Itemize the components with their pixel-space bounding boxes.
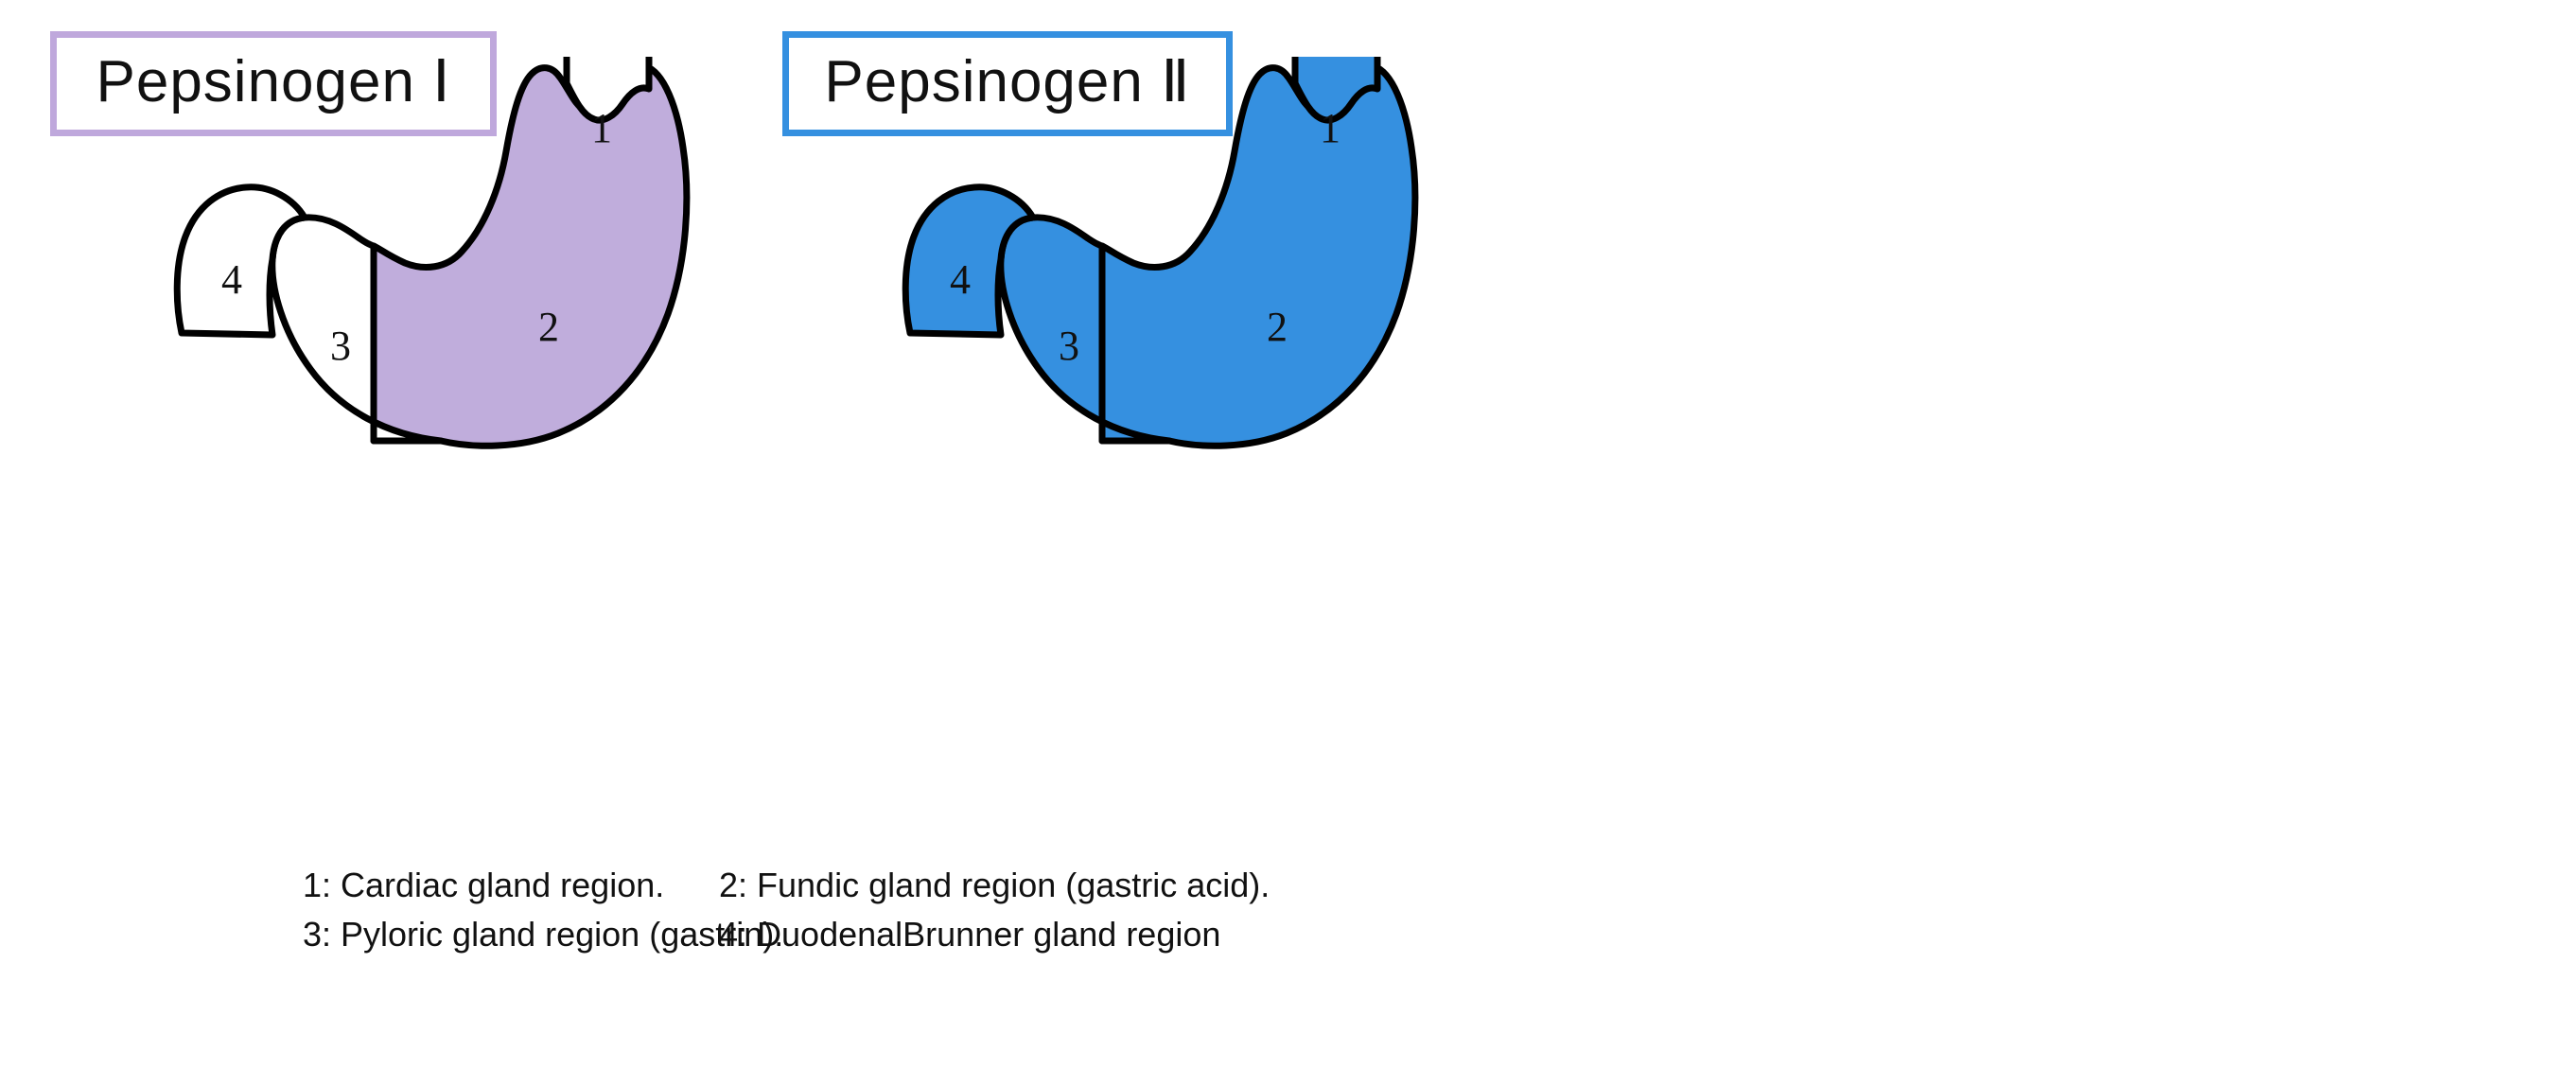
stomach-region-3-label: 3 [330, 323, 351, 369]
legend-item-3: 3: Pyloric gland region (gastrin). [303, 915, 719, 954]
stomach-region-2-label: 2 [1267, 304, 1288, 350]
legend-row: 3: Pyloric gland region (gastrin). 4: Du… [303, 915, 1343, 964]
legend-item-2: 2: Fundic gland region (gastric acid). [719, 866, 1249, 905]
stomach-diagram-pepsinogen-2: 1 2 3 4 [832, 57, 1570, 511]
stomach-region-2-fundic-shape[interactable] [374, 65, 687, 446]
legend-item-4: 4: DuodenalBrunner gland region [719, 915, 1249, 954]
legend-item-1: 1: Cardiac gland region. [303, 866, 719, 905]
legend-row: 1: Cardiac gland region. 2: Fundic gland… [303, 866, 1343, 915]
stomach-region-2-fundic-shape[interactable] [1102, 65, 1415, 446]
stomach-svg-pepsinogen-1: 1 2 3 4 [104, 57, 842, 511]
stomach-region-4-label: 4 [950, 256, 971, 303]
stomach-region-3-label: 3 [1059, 323, 1079, 369]
stomach-region-1-label: 1 [591, 105, 612, 151]
stomach-diagram-pepsinogen-1: 1 2 3 4 [104, 57, 842, 511]
stomach-svg-pepsinogen-2: 1 2 3 4 [832, 57, 1570, 511]
stomach-region-1-label: 1 [1320, 105, 1341, 151]
stomach-region-2-label: 2 [538, 304, 559, 350]
stomach-region-4-label: 4 [221, 256, 242, 303]
legend: 1: Cardiac gland region. 2: Fundic gland… [303, 866, 1343, 964]
